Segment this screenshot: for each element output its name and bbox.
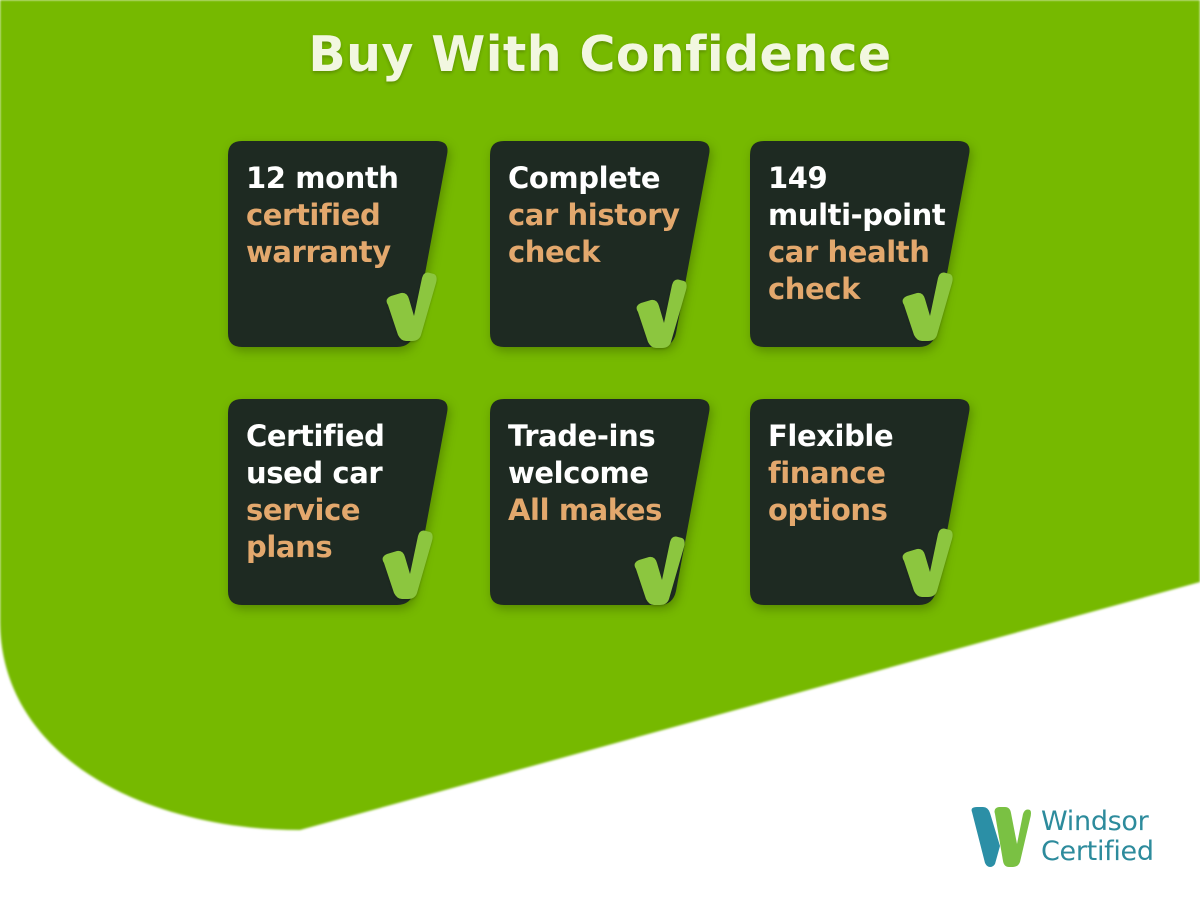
card-line: Certified [246,418,436,455]
card-line: check [508,234,698,271]
check-icon [628,533,686,605]
benefit-card-trade-ins-welcome-all-makes[interactable]: Trade-ins welcome All makes [490,399,712,605]
card-text-block: 12 month certified warranty [246,160,436,271]
check-icon [896,525,954,597]
benefit-card-149-multi-point-car-health-check[interactable]: 149 multi-point car health check [750,141,972,347]
card-line: certified [246,197,436,234]
card-line: Trade-ins [508,418,698,455]
card-line: All makes [508,492,698,529]
card-line: 149 [768,160,958,197]
logo-line-windsor: Windsor [1041,807,1154,837]
card-line: service [246,492,436,529]
benefit-card-complete-car-history-check[interactable]: Complete car history check [490,141,712,347]
card-text-block: Flexible finance options [768,418,958,529]
benefit-card-flexible-finance-options[interactable]: Flexible finance options [750,399,972,605]
benefit-card-12-month-certified-warranty[interactable]: 12 month certified warranty [228,141,450,347]
card-line: car health [768,234,958,271]
logo-line-certified: Certified [1041,837,1154,867]
card-line: warranty [246,234,436,271]
check-icon [630,276,688,348]
card-line: options [768,492,958,529]
card-line: car history [508,197,698,234]
promo-graphic: Buy With Confidence 12 month certified w… [0,0,1200,900]
logo-wordmark: Windsor Certified [1041,807,1154,867]
card-line: finance [768,455,958,492]
card-line: multi-point [768,197,958,234]
check-icon [376,527,434,599]
card-text-block: Trade-ins welcome All makes [508,418,698,529]
check-icon [896,269,954,341]
benefit-card-certified-used-car-service-plans[interactable]: Certified used car service plans [228,399,450,605]
windsor-certified-logo[interactable]: Windsor Certified [968,806,1154,868]
card-line: welcome [508,455,698,492]
page-title: Buy With Confidence [0,26,1200,83]
check-icon [380,269,438,341]
card-line: Complete [508,160,698,197]
windsor-w-mark-icon [968,806,1032,868]
benefits-card-grid: 12 month certified warranty Complete car… [0,0,1200,900]
card-line: used car [246,455,436,492]
card-text-block: Complete car history check [508,160,698,271]
card-line: Flexible [768,418,958,455]
card-line: 12 month [246,160,436,197]
